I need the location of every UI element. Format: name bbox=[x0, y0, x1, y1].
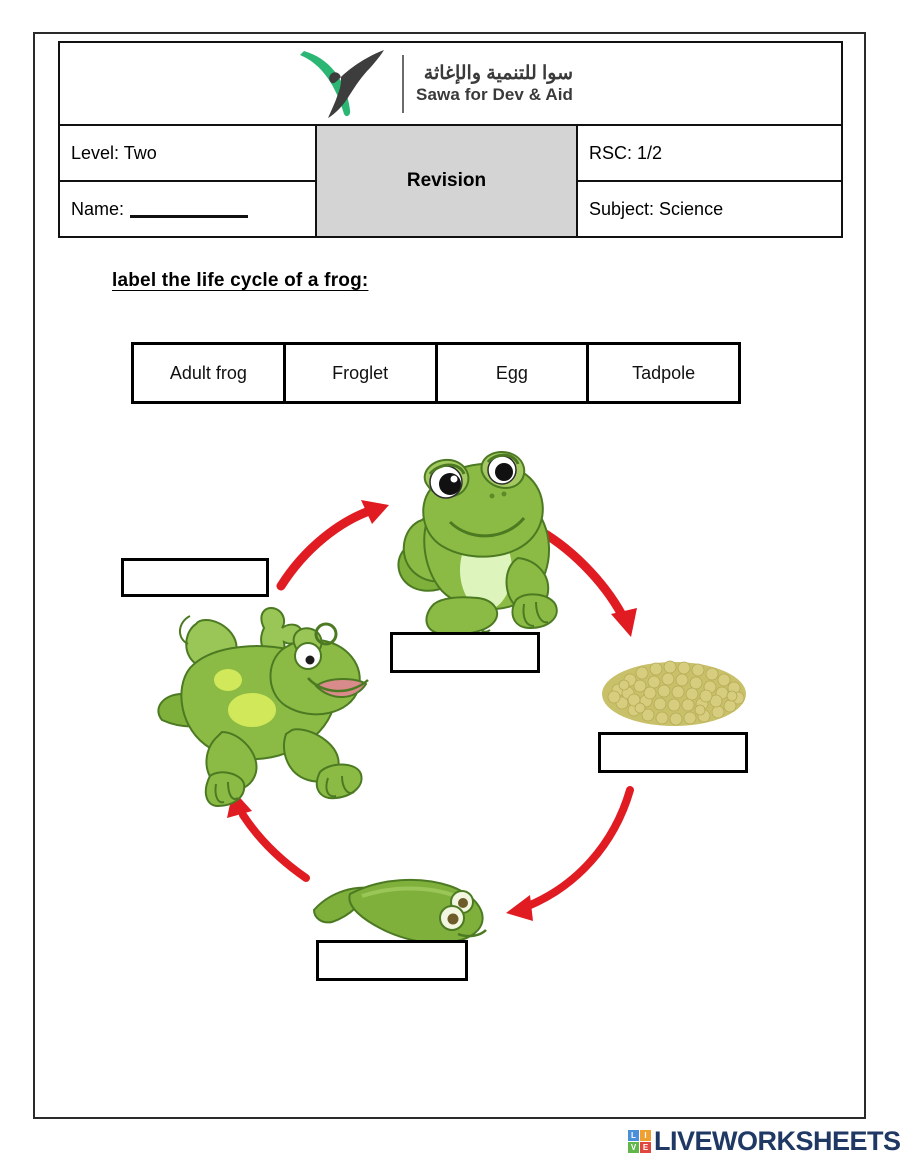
answer-box-froglet[interactable] bbox=[121, 558, 269, 597]
logo-text-block: سوا للتنمية والإغاثة Sawa for Dev & Aid bbox=[416, 63, 573, 103]
logo-divider bbox=[402, 55, 404, 113]
answer-box-tadpole[interactable] bbox=[316, 940, 468, 981]
answer-box-adult-frog[interactable] bbox=[390, 632, 540, 673]
organization-logo: سوا للتنمية والإغاثة Sawa for Dev & Aid bbox=[288, 48, 573, 120]
name-field-blank[interactable] bbox=[130, 201, 248, 218]
worksheet-title: Revision bbox=[407, 170, 486, 192]
rsc-field: RSC: 1/2 bbox=[578, 126, 841, 182]
lw-square-i: I bbox=[640, 1130, 651, 1141]
level-field: Level: Two bbox=[60, 126, 315, 182]
header-left-column: Level: Two Name: bbox=[60, 126, 317, 236]
answer-box-egg[interactable] bbox=[598, 732, 748, 773]
word-bank: Adult frog Froglet Egg Tadpole bbox=[131, 342, 741, 404]
lw-square-v: V bbox=[628, 1142, 639, 1153]
header-right-column: RSC: 1/2 Subject: Science bbox=[578, 126, 841, 236]
header-table: سوا للتنمية والإغاثة Sawa for Dev & Aid … bbox=[58, 41, 843, 238]
word-bank-item-froglet[interactable]: Froglet bbox=[286, 345, 438, 401]
worksheet-page: سوا للتنمية والإغاثة Sawa for Dev & Aid … bbox=[0, 0, 900, 1161]
sawa-bird-logo-icon bbox=[288, 48, 400, 120]
lw-square-e: E bbox=[640, 1142, 651, 1153]
liveworksheets-logo: L I V E LIVEWORKSHEETS bbox=[628, 1126, 900, 1157]
instruction-text: label the life cycle of a frog: bbox=[112, 270, 368, 292]
word-bank-item-adult-frog[interactable]: Adult frog bbox=[134, 345, 286, 401]
word-bank-item-tadpole[interactable]: Tadpole bbox=[589, 345, 738, 401]
lw-square-l: L bbox=[628, 1130, 639, 1141]
name-field[interactable]: Name: bbox=[60, 182, 315, 236]
name-field-label: Name: bbox=[71, 199, 124, 220]
word-bank-item-egg[interactable]: Egg bbox=[438, 345, 590, 401]
liveworksheets-wordmark: LIVEWORKSHEETS bbox=[654, 1126, 900, 1157]
subject-field: Subject: Science bbox=[578, 182, 841, 236]
header-logo-row: سوا للتنمية والإغاثة Sawa for Dev & Aid bbox=[60, 43, 841, 126]
logo-english-name: Sawa for Dev & Aid bbox=[416, 85, 573, 104]
logo-arabic-name: سوا للتنمية والإغاثة bbox=[416, 63, 573, 84]
worksheet-title-cell: Revision bbox=[317, 126, 578, 236]
liveworksheets-icon: L I V E bbox=[628, 1130, 651, 1153]
header-info-row: Level: Two Name: Revision RSC: 1/2 Subje… bbox=[60, 126, 841, 236]
